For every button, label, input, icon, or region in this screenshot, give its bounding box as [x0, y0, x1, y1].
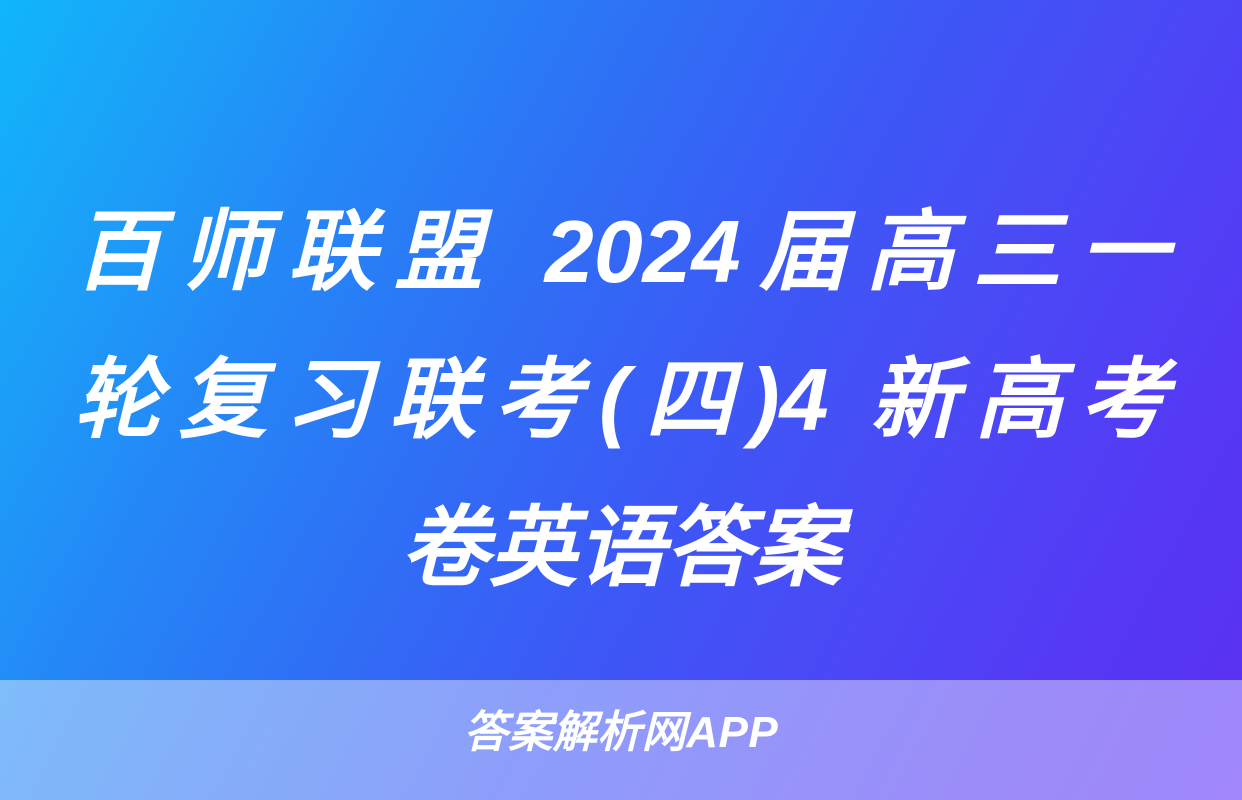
title-line-2: 轮复习联考(四)4 新高考 — [74, 326, 1168, 474]
poster-title: 百师联盟 2024届高三一 轮复习联考(四)4 新高考 卷英语答案 — [0, 178, 1242, 622]
title-line-3: 卷英语答案 — [74, 474, 1168, 622]
title-line-1: 百师联盟 2024届高三一 — [74, 178, 1168, 326]
answer-poster-card: 百师联盟 2024届高三一 轮复习联考(四)4 新高考 卷英语答案 答案解析网A… — [0, 0, 1242, 800]
watermark-brand-label: 答案解析网APP — [0, 707, 1242, 759]
